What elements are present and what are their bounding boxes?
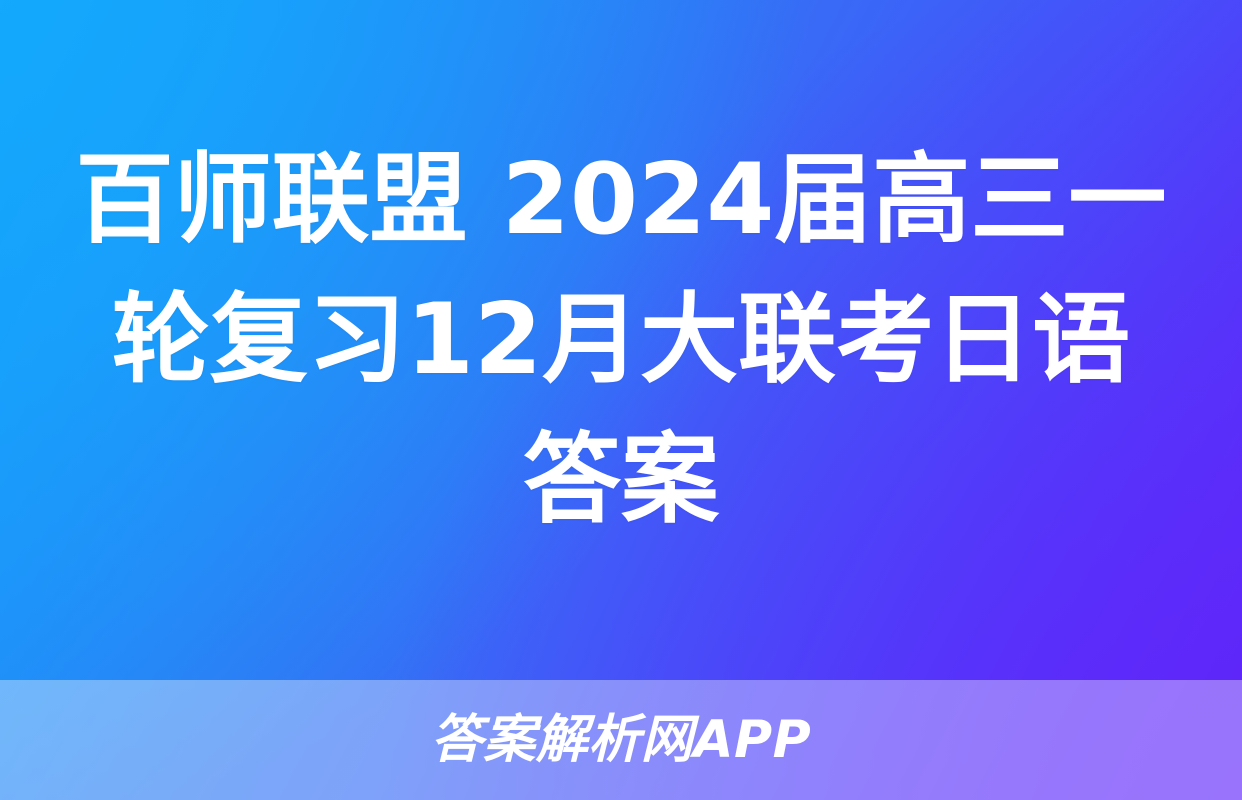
page-title: 百师联盟 2024届高三一轮复习12月大联考日语答案 [71, 130, 1171, 550]
watermark-band: 答案解析网APP [0, 680, 1242, 800]
watermark-app-label: 答案解析网APP [431, 714, 811, 766]
share-card: 百师联盟 2024届高三一轮复习12月大联考日语答案 答案解析网APP [0, 0, 1242, 800]
headline-block: 百师联盟 2024届高三一轮复习12月大联考日语答案 [0, 0, 1242, 680]
